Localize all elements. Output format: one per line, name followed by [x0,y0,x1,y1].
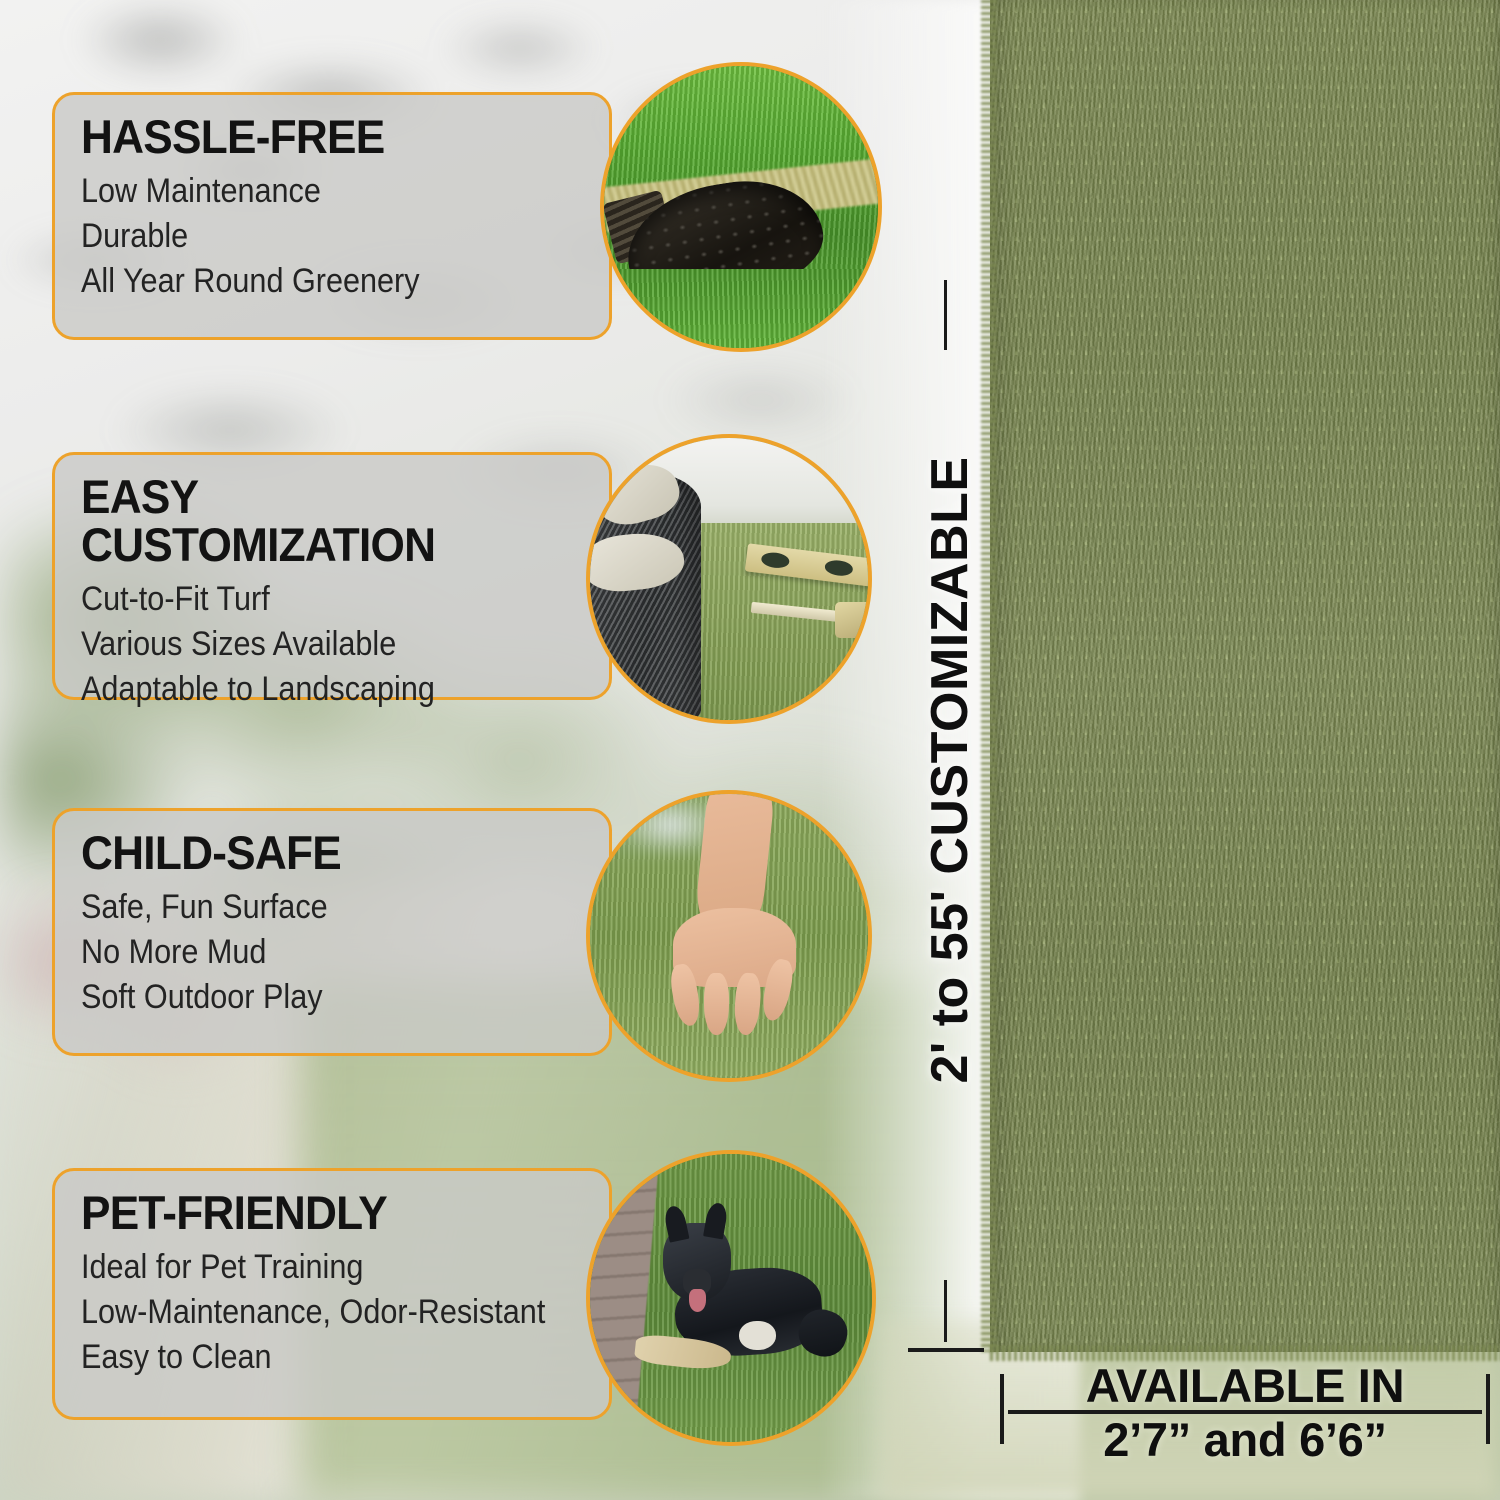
list-item: Cut-to-Fit Turf [81,577,533,622]
feature-title: EASY CUSTOMIZATION [81,473,553,569]
list-item: Durable [81,214,533,259]
list-item: All Year Round Greenery [81,259,533,304]
length-dimension-callout: 2' to 55' CUSTOMIZABLE [860,280,1000,1360]
list-item: Soft Outdoor Play [81,975,533,1020]
feature-photo-child-hand [586,790,872,1082]
list-item: Adaptable to Landscaping [81,667,533,712]
turf-roll-image [990,0,1500,1352]
length-dimension-label: 2' to 55' CUSTOMIZABLE [920,290,980,1250]
feature-photo-dog [586,1150,876,1446]
list-item: No More Mud [81,930,533,975]
photo-content [590,794,868,1078]
feature-title: CHILD-SAFE [81,829,553,877]
width-label-top: AVAILABLE IN [1000,1362,1490,1409]
feature-card-pet-friendly: PET-FRIENDLY Ideal for Pet Training Low-… [52,1168,612,1420]
list-item: Low-Maintenance, Odor-Resistant [81,1290,533,1335]
list-item: Various Sizes Available [81,622,533,667]
dimension-end-tick-bottom [908,1348,984,1352]
list-item: Easy to Clean [81,1335,533,1380]
photo-content [590,1154,872,1442]
dog-tongue [689,1289,706,1312]
dog-chest-marking [739,1321,776,1350]
feature-photo-turf-closeup [600,62,882,352]
product-infographic: HASSLE-FREE Low Maintenance Durable All … [0,0,1500,1500]
feature-bullet-list: Cut-to-Fit Turf Various Sizes Available … [81,577,583,712]
feature-photo-installation [586,434,872,724]
width-label-bottom: 2’7” and 6’6” [1000,1416,1490,1463]
list-item: Ideal for Pet Training [81,1245,533,1290]
finger [704,973,729,1035]
width-dimension-callout: AVAILABLE IN 2’7” and 6’6” [1000,1360,1490,1485]
feature-bullet-list: Safe, Fun Surface No More Mud Soft Outdo… [81,885,583,1020]
photo-content [590,438,868,720]
feature-bullet-list: Low Maintenance Durable All Year Round G… [81,169,583,304]
turf-fiber-texture [990,0,1500,1352]
lower-grass [604,269,878,348]
list-item: Safe, Fun Surface [81,885,533,930]
feature-card-child-safe: CHILD-SAFE Safe, Fun Surface No More Mud… [52,808,612,1056]
feature-card-easy-customization: EASY CUSTOMIZATION Cut-to-Fit Turf Vario… [52,452,612,700]
feature-title: PET-FRIENDLY [81,1189,553,1237]
feature-card-hassle-free: HASSLE-FREE Low Maintenance Durable All … [52,92,612,340]
feature-title: HASSLE-FREE [81,113,553,161]
list-item: Low Maintenance [81,169,533,214]
feature-bullet-list: Ideal for Pet Training Low-Maintenance, … [81,1245,583,1380]
photo-content [604,66,878,348]
dimension-line-bottom [944,1280,947,1342]
